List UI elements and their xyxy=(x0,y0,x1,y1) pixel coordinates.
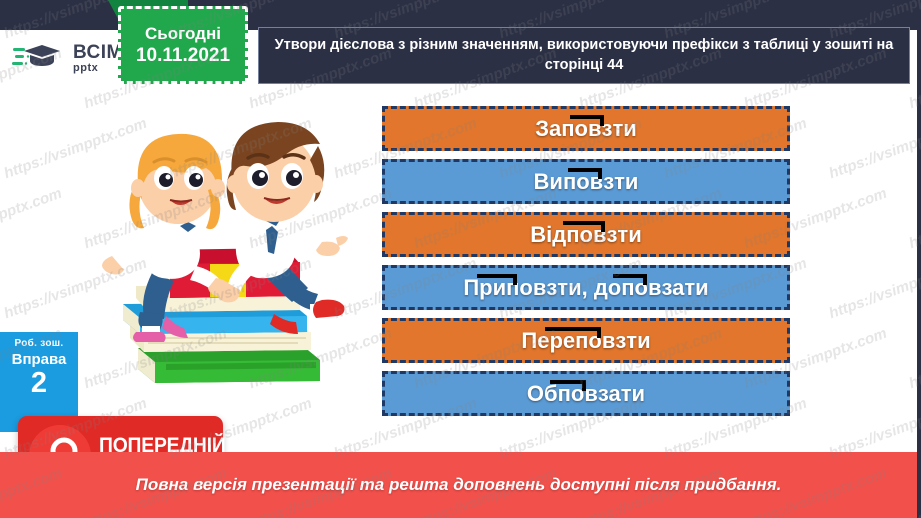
brand-name: ВСІМ xyxy=(73,43,123,62)
word-box[interactable]: Заповзти xyxy=(382,106,790,151)
word-box[interactable]: Приповзти, доповзати xyxy=(382,265,790,310)
today-date: 10.11.2021 xyxy=(136,44,230,68)
two-children-on-books-illustration xyxy=(78,98,378,393)
right-edge-rule xyxy=(917,0,921,518)
word-box[interactable]: Обповзати xyxy=(382,371,790,416)
today-label: Сьогодні xyxy=(145,23,221,44)
instruction-bar: Утвори дієслова з різним значенням, вико… xyxy=(258,27,910,84)
slide-stage: ВСІМ pptx Сьогодні 10.11.2021 Утвори діє… xyxy=(0,0,921,518)
graduation-cap-icon xyxy=(12,40,68,76)
word-box-label: Заповзти xyxy=(535,116,637,142)
word-box[interactable]: Виповзти xyxy=(382,159,790,204)
word-box-label: Переповзти xyxy=(521,328,650,354)
brand-logo-text: ВСІМ pptx xyxy=(73,43,123,74)
brand-sub: pptx xyxy=(73,63,123,74)
exercise-workbook-label: Роб. зош. xyxy=(0,338,78,349)
word-box-label: Виповзти xyxy=(534,169,639,195)
instruction-text: Утвори дієслова з різним значенням, вико… xyxy=(267,36,901,75)
word-box[interactable]: Переповзти xyxy=(382,318,790,363)
word-box-label: Приповзти, доповзати xyxy=(463,275,708,301)
exercise-number: 2 xyxy=(0,367,78,400)
word-box[interactable]: Відповзти xyxy=(382,212,790,257)
word-box-label: Обповзати xyxy=(527,381,645,407)
purchase-banner-text: Повна версія презентації та решта доповн… xyxy=(136,474,782,497)
exercise-label: Вправа xyxy=(0,351,78,368)
purchase-banner: Повна версія презентації та решта доповн… xyxy=(0,452,917,518)
today-date-badge: Сьогодні 10.11.2021 xyxy=(118,6,248,84)
word-box-list: Заповзти Виповзти Відповзти Приповзти, д… xyxy=(382,106,790,428)
word-box-label: Відповзти xyxy=(530,222,641,248)
